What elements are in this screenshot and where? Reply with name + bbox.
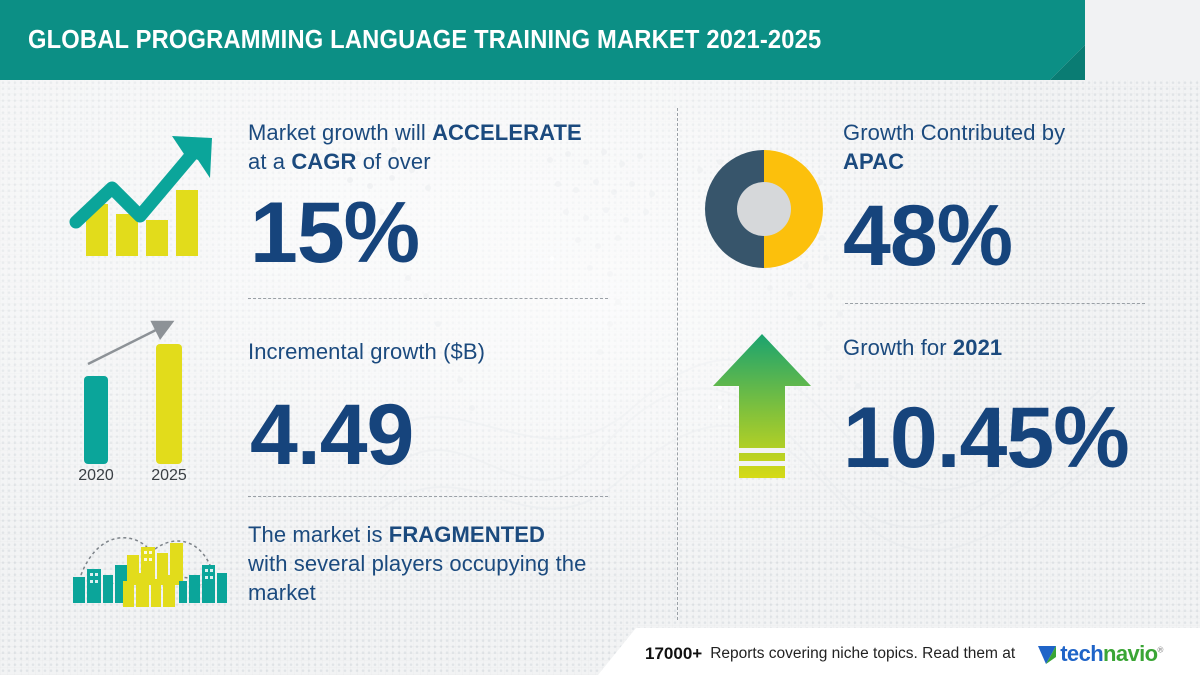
logo-text-tech: tech bbox=[1060, 641, 1103, 666]
cagr-caption-text-a: Market growth will bbox=[248, 120, 432, 145]
fragmented-market-cities-icon bbox=[55, 515, 235, 610]
column-divider bbox=[677, 108, 678, 620]
apac-caption: Growth Contributed by APAC bbox=[843, 118, 1173, 176]
growth-2021-caption-text-b: 2021 bbox=[953, 335, 1002, 360]
incremental-growth-value: 4.49 bbox=[250, 392, 413, 478]
left-divider-1 bbox=[248, 298, 608, 299]
apac-caption-text-b: APAC bbox=[843, 149, 904, 174]
cagr-caption-line-1: Market growth will ACCELERATE bbox=[248, 118, 628, 147]
technavio-logo[interactable]: technavio® bbox=[1037, 641, 1163, 667]
fragmented-market-caption: The market is FRAGMENTED with several pl… bbox=[248, 520, 643, 607]
logo-text-navio: navio bbox=[1103, 641, 1157, 666]
fragmented-caption-text-c: with several players occupying the bbox=[248, 551, 586, 576]
cagr-value: 15% bbox=[250, 190, 419, 276]
technavio-mark-icon bbox=[1037, 643, 1057, 665]
cagr-caption-line-2: at a CAGR of over bbox=[248, 147, 628, 176]
incremental-growth-caption-text: Incremental growth ($B) bbox=[248, 339, 485, 364]
growth-2021-caption: Growth for 2021 bbox=[843, 333, 1173, 362]
cagr-caption: Market growth will ACCELERATE at a CAGR … bbox=[248, 118, 628, 176]
apac-caption-text-a: Growth Contributed by bbox=[843, 120, 1065, 145]
reports-count: 17000+ bbox=[645, 644, 702, 664]
page-title: GLOBAL PROGRAMMING LANGUAGE TRAINING MAR… bbox=[28, 26, 821, 55]
infographic-page: GLOBAL PROGRAMMING LANGUAGE TRAINING MAR… bbox=[0, 0, 1200, 675]
donut-chart-icon bbox=[703, 148, 825, 270]
up-arrow-icon bbox=[707, 328, 817, 478]
cagr-caption-text-b: ACCELERATE bbox=[432, 120, 582, 145]
growth-2021-value: 10.45% bbox=[843, 395, 1129, 481]
logo-trademark: ® bbox=[1158, 646, 1163, 655]
fragmented-caption-text-d: market bbox=[248, 580, 316, 605]
cagr-caption-text-c: at a bbox=[248, 149, 291, 174]
right-divider-1 bbox=[845, 303, 1145, 304]
incremental-growth-caption: Incremental growth ($B) bbox=[248, 337, 628, 366]
incremental-growth-label-2025: 2025 bbox=[151, 467, 187, 483]
footer-content: 17000+ Reports covering niche topics. Re… bbox=[645, 641, 1163, 667]
incremental-growth-bars-icon: 2020 2025 bbox=[50, 308, 225, 483]
growth-2021-caption-text-a: Growth for bbox=[843, 335, 953, 360]
fragmented-caption-text-a: The market is bbox=[248, 522, 389, 547]
cagr-caption-text-d: CAGR bbox=[291, 149, 356, 174]
apac-value: 48% bbox=[843, 193, 1012, 279]
incremental-growth-label-2020: 2020 bbox=[78, 467, 114, 483]
footer-tagline: Reports covering niche topics. Read them… bbox=[710, 645, 1015, 663]
growth-arrow-bar-chart-icon bbox=[60, 128, 225, 263]
fragmented-caption-text-b: FRAGMENTED bbox=[389, 522, 545, 547]
cagr-caption-text-e: of over bbox=[357, 149, 431, 174]
left-divider-2 bbox=[248, 496, 608, 497]
